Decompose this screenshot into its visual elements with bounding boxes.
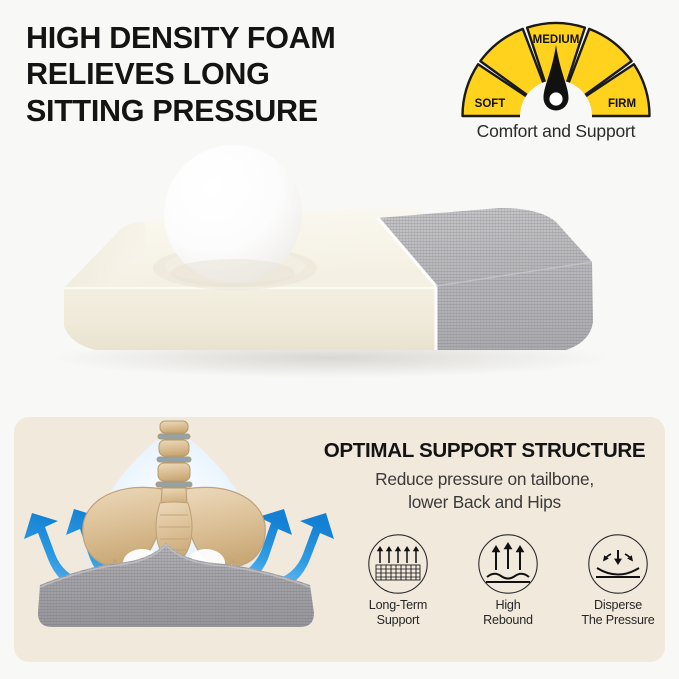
feature-disperse-pressure: Disperse The Pressure [568, 533, 668, 629]
feature-label-line-2: Support [348, 613, 448, 628]
headline-line-1: HIGH DENSITY FOAM [26, 20, 446, 56]
gauge-label-medium: MEDIUM [533, 34, 580, 46]
rebound-arrows-icon [477, 533, 539, 595]
headline-line-3: SITTING PRESSURE [26, 93, 446, 129]
panel-heading: OPTIMAL SUPPORT STRUCTURE [304, 439, 665, 463]
feature-label-high-rebound: High Rebound [458, 598, 558, 629]
feature-high-rebound: High Rebound [458, 533, 558, 629]
feature-label-line-1: High [458, 598, 558, 613]
feature-label-line-2: The Pressure [568, 613, 668, 628]
panel-text-block: OPTIMAL SUPPORT STRUCTURE Reduce pressur… [304, 439, 665, 514]
disperse-arrows-icon [587, 533, 649, 595]
feature-label-disperse-pressure: Disperse The Pressure [568, 598, 668, 629]
panel-subtitle-line-1: Reduce pressure on tailbone, [304, 468, 665, 491]
feature-label-line-2: Rebound [458, 613, 558, 628]
gauge-label-firm: FIRM [608, 98, 636, 110]
gauge-label-soft: SOFT [475, 98, 506, 110]
feature-long-term-support: Long-Term Support [348, 533, 448, 629]
pelvis-support-illustration [14, 417, 344, 662]
product-photo-cushion [0, 136, 679, 391]
page-headline: HIGH DENSITY FOAM RELIEVES LONG SITTING … [26, 20, 446, 129]
feature-label-line-1: Long-Term [348, 598, 448, 613]
comfort-gauge-block: SOFT MEDIUM FIRM Comfort and Support [443, 16, 669, 142]
sphere-contact-shadow [171, 259, 295, 287]
firmness-gauge-icon: SOFT MEDIUM FIRM [450, 16, 662, 120]
headline-line-2: RELIEVES LONG [26, 56, 446, 92]
grid-arrows-icon [367, 533, 429, 595]
feature-label-line-1: Disperse [568, 598, 668, 613]
foam-front-face [64, 288, 436, 350]
panel-subtitle-line-2: lower Back and Hips [304, 491, 665, 514]
gauge-needle-hub-icon [549, 92, 562, 105]
feature-icon-row: Long-Term Support High Rebound [348, 533, 668, 629]
feature-label-long-term-support: Long-Term Support [348, 598, 448, 629]
panel-subtitle: Reduce pressure on tailbone, lower Back … [304, 468, 665, 514]
